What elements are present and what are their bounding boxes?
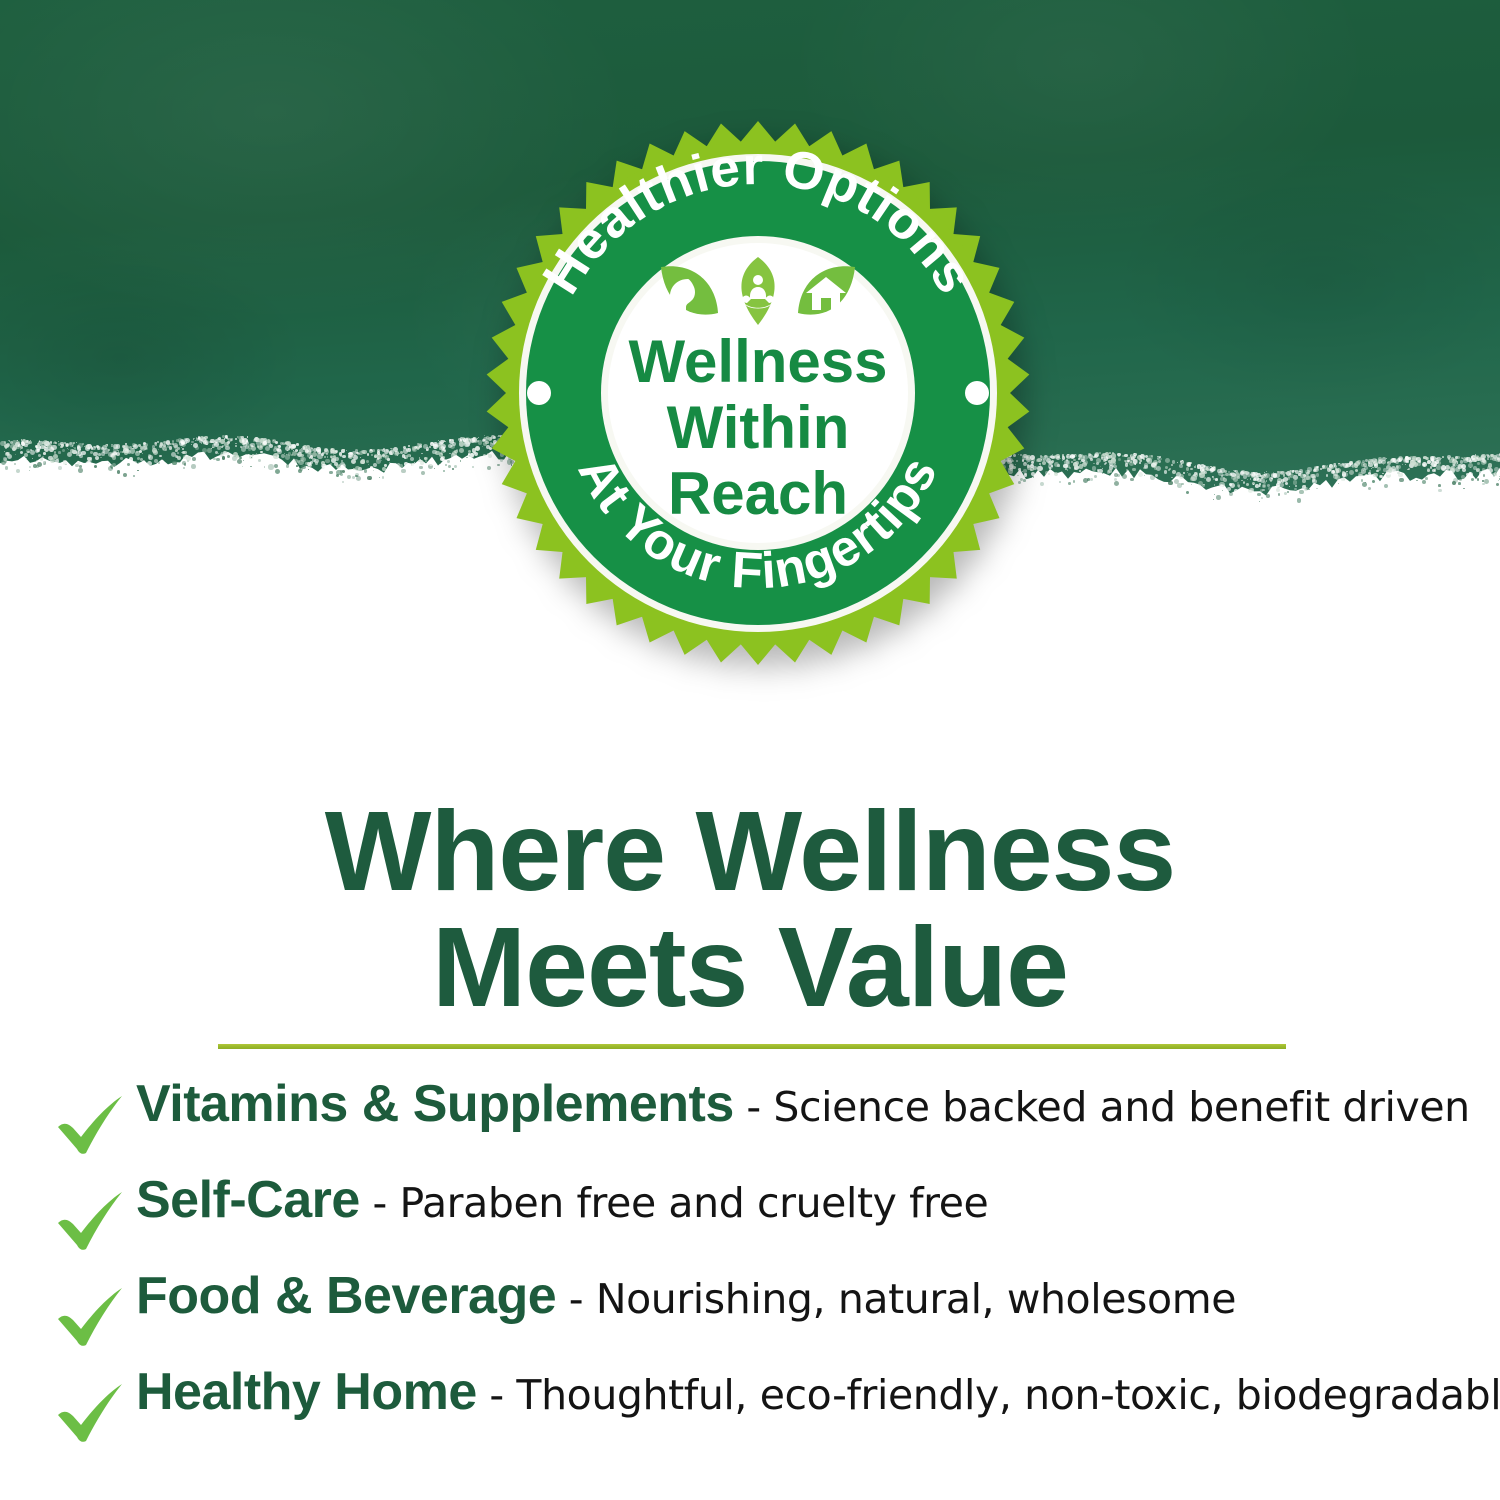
badge-center-line-2: Within xyxy=(667,394,850,461)
feature-list: Vitamins & Supplements - Science backed … xyxy=(48,1078,1468,1462)
list-item-text: Food & Beverage - Nourishing, natural, w… xyxy=(136,1270,1468,1322)
list-item-title: Food & Beverage xyxy=(136,1267,556,1325)
list-item-text: Self-Care - Paraben free and cruelty fre… xyxy=(136,1174,1468,1226)
list-item-desc: - Paraben free and cruelty free xyxy=(360,1179,989,1227)
marketing-banner: Healthier Options At Your Fingertips xyxy=(0,0,1500,1500)
page-title-line-2: Meets Value xyxy=(0,909,1500,1025)
title-divider-rule xyxy=(218,1044,1286,1049)
list-item: Vitamins & Supplements - Science backed … xyxy=(48,1078,1468,1174)
list-item-title: Vitamins & Supplements xyxy=(136,1075,734,1133)
list-item-desc: - Science backed and benefit driven xyxy=(734,1083,1470,1131)
badge-center-line-3: Reach xyxy=(668,460,848,527)
list-item-text: Vitamins & Supplements - Science backed … xyxy=(136,1078,1470,1130)
check-icon xyxy=(48,1187,136,1257)
page-title: Where Wellness Meets Value xyxy=(0,793,1500,1026)
list-item-desc: - Thoughtful, eco-friendly, non-toxic, b… xyxy=(477,1371,1500,1419)
wellness-seal-badge: Healthier Options At Your Fingertips xyxy=(479,114,1037,672)
list-item-title: Healthy Home xyxy=(136,1363,477,1421)
check-icon xyxy=(48,1379,136,1449)
list-item-title: Self-Care xyxy=(136,1171,360,1229)
list-item-text: Healthy Home - Thoughtful, eco-friendly,… xyxy=(136,1366,1500,1418)
page-title-line-1: Where Wellness xyxy=(0,793,1500,909)
list-item-desc: - Nourishing, natural, wholesome xyxy=(556,1275,1236,1323)
list-item: Healthy Home - Thoughtful, eco-friendly,… xyxy=(48,1366,1468,1462)
badge-separator-dot-left xyxy=(527,381,551,405)
check-icon xyxy=(48,1091,136,1161)
list-item: Food & Beverage - Nourishing, natural, w… xyxy=(48,1270,1468,1366)
check-icon xyxy=(48,1283,136,1353)
list-item: Self-Care - Paraben free and cruelty fre… xyxy=(48,1174,1468,1270)
badge-center-line-1: Wellness xyxy=(628,328,887,395)
badge-separator-dot-right xyxy=(965,381,989,405)
